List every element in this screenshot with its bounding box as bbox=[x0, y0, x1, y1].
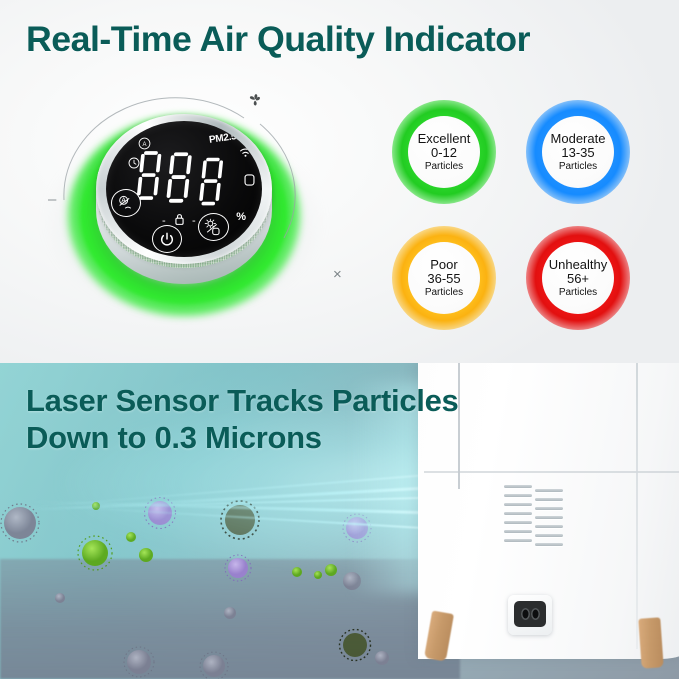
percent-label: % bbox=[236, 211, 246, 223]
aqi-level-name: Poor bbox=[430, 258, 457, 272]
aqi-level-name: Unhealthy bbox=[549, 258, 608, 272]
lock-dash-right: - bbox=[192, 216, 196, 227]
air-intake-vents bbox=[504, 485, 568, 553]
digit-2 bbox=[164, 152, 194, 203]
light-filter-reset-button[interactable] bbox=[198, 213, 229, 241]
fan-speed-icon bbox=[246, 92, 264, 108]
wifi-icon bbox=[239, 147, 252, 160]
aqi-badge-inner: Unhealthy 56+ Particles bbox=[542, 242, 614, 314]
svg-text:A: A bbox=[143, 142, 147, 148]
auto-mode-icon: A bbox=[138, 137, 151, 152]
pm25-label: PM2.5 bbox=[208, 131, 237, 146]
wooden-leg-right bbox=[638, 617, 663, 668]
aqi-badge-unhealthy: Unhealthy 56+ Particles bbox=[526, 226, 630, 330]
pm25-seven-segment-readout bbox=[136, 147, 238, 221]
vent-column-right bbox=[535, 489, 563, 557]
bottom-headline-line1: Laser Sensor Tracks Particles bbox=[26, 383, 646, 420]
speed-plus-icon: × bbox=[333, 266, 342, 283]
power-socket bbox=[508, 595, 552, 635]
timer-clock-icon bbox=[128, 157, 140, 171]
lcd-display[interactable]: PM2.5 % A - - bbox=[106, 121, 262, 257]
bottom-headline: Laser Sensor Tracks Particles Down to 0.… bbox=[26, 383, 646, 456]
aqi-level-unit: Particles bbox=[425, 161, 463, 172]
aqi-badge-inner: Excellent 0-12 Particles bbox=[408, 116, 480, 188]
aqi-badge-moderate: Moderate 13-35 Particles bbox=[526, 100, 630, 204]
infographic-page: Real-Time Air Quality Indicator bbox=[0, 0, 679, 679]
aqi-level-range: 36-55 bbox=[427, 271, 460, 287]
aqi-badge-excellent: Excellent 0-12 Particles bbox=[392, 100, 496, 204]
socket-contacts bbox=[514, 601, 546, 627]
top-panel: Real-Time Air Quality Indicator bbox=[0, 0, 679, 363]
bottom-headline-line2: Down to 0.3 Microns bbox=[26, 420, 646, 457]
vent-column-left bbox=[504, 485, 532, 553]
body-seam-horizontal bbox=[424, 471, 679, 473]
aqi-level-unit: Particles bbox=[559, 161, 597, 172]
page-title: Real-Time Air Quality Indicator bbox=[26, 22, 679, 59]
aqi-badge-poor: Poor 36-55 Particles bbox=[392, 226, 496, 330]
air-purifier-top-view: PM2.5 % A - - bbox=[38, 86, 328, 326]
aqi-level-name: Moderate bbox=[551, 132, 606, 146]
aqi-badge-inner: Moderate 13-35 Particles bbox=[542, 116, 614, 188]
aqi-level-range: 13-35 bbox=[561, 145, 594, 161]
filter-replace-icon bbox=[243, 173, 256, 189]
aqi-level-unit: Particles bbox=[425, 287, 463, 298]
aqi-level-unit: Particles bbox=[559, 287, 597, 298]
digit-3 bbox=[197, 158, 226, 207]
aqi-level-name: Excellent bbox=[418, 132, 471, 146]
auto-wifi-button[interactable]: A bbox=[111, 189, 141, 217]
aqi-level-range: 56+ bbox=[567, 271, 589, 287]
aqi-legend: Excellent 0-12 Particles Moderate 13-35 … bbox=[386, 96, 666, 346]
power-button[interactable] bbox=[152, 225, 182, 253]
aqi-badge-inner: Poor 36-55 Particles bbox=[408, 242, 480, 314]
speed-minus-icon: – bbox=[48, 191, 56, 208]
aqi-level-range: 0-12 bbox=[431, 145, 457, 161]
